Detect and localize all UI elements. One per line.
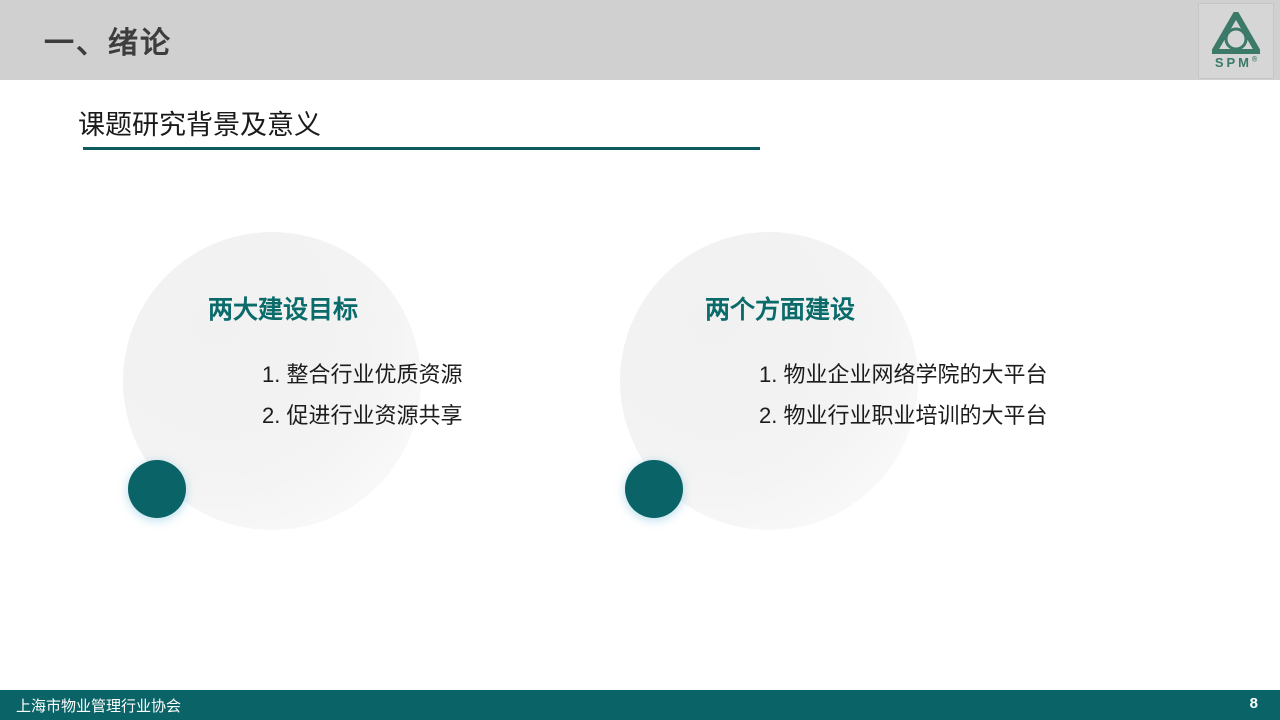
spm-logo: SPM® (1198, 3, 1274, 79)
footer-page-number: 8 (1250, 695, 1258, 712)
decorative-accent-dot (625, 460, 683, 518)
page-title: 一、绪论 (44, 18, 172, 62)
registered-mark-icon: ® (1252, 57, 1257, 64)
slide-footer-band: 上海市物业管理行业协会 8 (0, 690, 1280, 720)
section-subtitle: 课题研究背景及意义 (78, 103, 321, 142)
list-item: 1. 整合行业优质资源 (262, 354, 462, 395)
list-item: 2. 促进行业资源共享 (262, 395, 462, 436)
content-group-right: 两个方面建设 1. 物业企业网络学院的大平台 2. 物业行业职业培训的大平台 (620, 232, 1020, 532)
decorative-accent-dot (128, 460, 186, 518)
group-heading: 两个方面建设 (705, 290, 855, 326)
footer-organization: 上海市物业管理行业协会 (16, 695, 181, 716)
group-heading: 两大建设目标 (208, 290, 358, 326)
spm-triangle-logo-icon (1212, 12, 1260, 54)
list-item: 1. 物业企业网络学院的大平台 (759, 354, 1047, 395)
section-subtitle-underline (83, 147, 760, 150)
slide-header-band (0, 0, 1280, 80)
content-group-left: 两大建设目标 1. 整合行业优质资源 2. 促进行业资源共享 (123, 232, 523, 532)
group-item-list: 1. 物业企业网络学院的大平台 2. 物业行业职业培训的大平台 (759, 354, 1047, 436)
list-item: 2. 物业行业职业培训的大平台 (759, 395, 1047, 436)
group-item-list: 1. 整合行业优质资源 2. 促进行业资源共享 (262, 354, 462, 436)
spm-logo-wordmark: SPM (1215, 55, 1252, 70)
spm-logo-text: SPM® (1215, 55, 1257, 70)
